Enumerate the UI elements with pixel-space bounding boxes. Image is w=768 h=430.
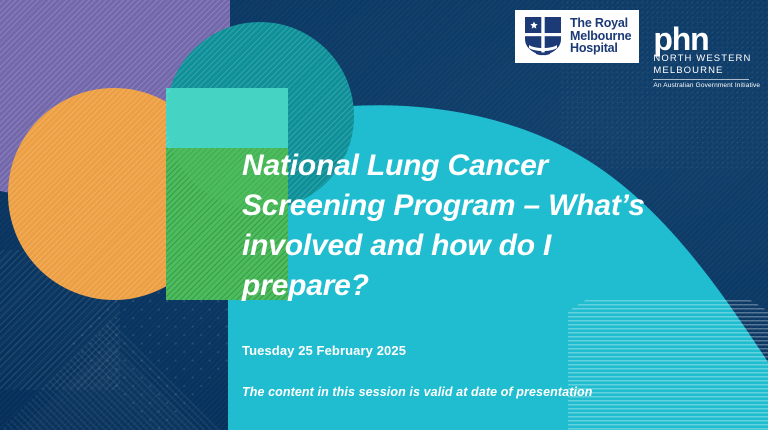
event-date: Tuesday 25 February 2025: [242, 343, 406, 358]
presentation-title-slide: The Royal Melbourne Hospital phn NORTH W…: [0, 0, 768, 430]
phn-wordmark: phn: [653, 26, 760, 52]
rmh-logo: The Royal Melbourne Hospital: [515, 10, 639, 63]
phn-initiative-text: An Australian Government Initiative: [653, 82, 760, 89]
phn-region-line-1: NORTH WESTERN: [653, 53, 760, 64]
phn-divider: [653, 79, 749, 80]
rmh-line-3: Hospital: [570, 42, 631, 55]
validity-note: The content in this session is valid at …: [242, 385, 593, 399]
rmh-line-1: The Royal: [570, 17, 631, 30]
logo-bar: The Royal Melbourne Hospital phn NORTH W…: [515, 10, 760, 89]
shield-crest-icon: [523, 15, 563, 57]
rmh-wordmark: The Royal Melbourne Hospital: [570, 17, 631, 55]
page-title: National Lung Cancer Screening Program –…: [242, 146, 672, 306]
phn-region-line-2: MELBOURNE: [653, 65, 760, 76]
phn-logo: phn NORTH WESTERN MELBOURNE An Australia…: [653, 26, 760, 89]
